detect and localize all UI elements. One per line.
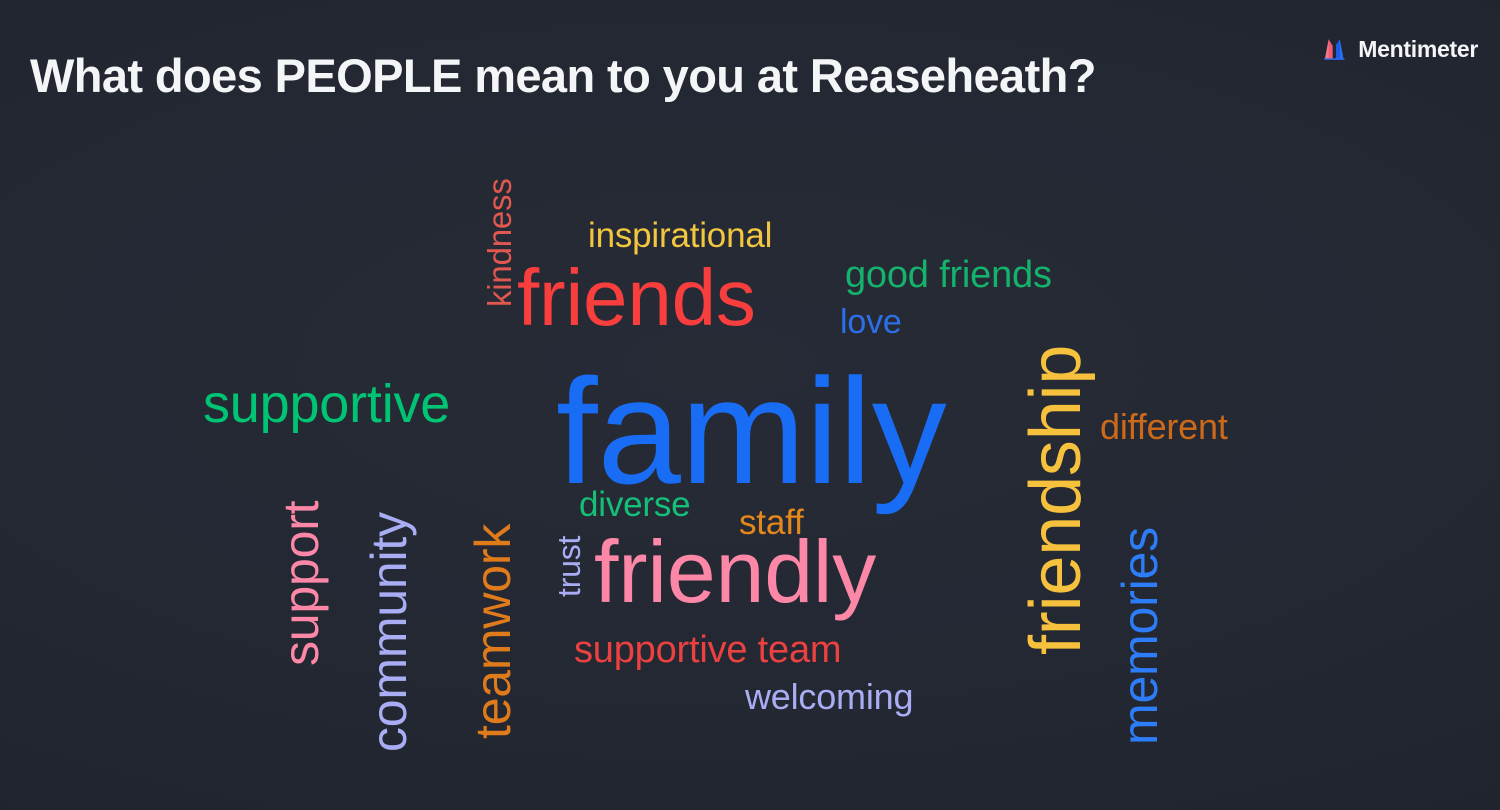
cloud-word[interactable]: supportive <box>203 377 450 431</box>
cloud-word[interactable]: diverse <box>579 487 690 522</box>
cloud-word[interactable]: trust <box>553 536 585 597</box>
cloud-word[interactable]: staff <box>739 505 804 540</box>
cloud-word[interactable]: family <box>556 356 947 506</box>
cloud-word[interactable]: welcoming <box>745 679 913 715</box>
cloud-word[interactable]: supportive team <box>574 631 841 669</box>
cloud-word[interactable]: different <box>1100 409 1228 445</box>
cloud-word[interactable]: community <box>364 512 414 752</box>
cloud-word[interactable]: kindness <box>483 178 516 307</box>
cloud-word[interactable]: memories <box>1115 527 1165 745</box>
cloud-word[interactable]: teamwork <box>468 524 518 739</box>
word-cloud: familyfriendlyfriendsfriendshipsupportiv… <box>0 0 1500 810</box>
cloud-word[interactable]: friendly <box>594 528 876 616</box>
cloud-word[interactable]: friends <box>517 258 756 338</box>
cloud-word[interactable]: good friends <box>845 256 1052 294</box>
cloud-word[interactable]: love <box>840 305 902 339</box>
cloud-word[interactable]: inspirational <box>588 218 772 253</box>
cloud-word[interactable]: support <box>276 501 326 666</box>
wordcloud-slide: What does PEOPLE mean to you at Reasehea… <box>0 0 1500 810</box>
cloud-word[interactable]: friendship <box>1020 345 1092 655</box>
